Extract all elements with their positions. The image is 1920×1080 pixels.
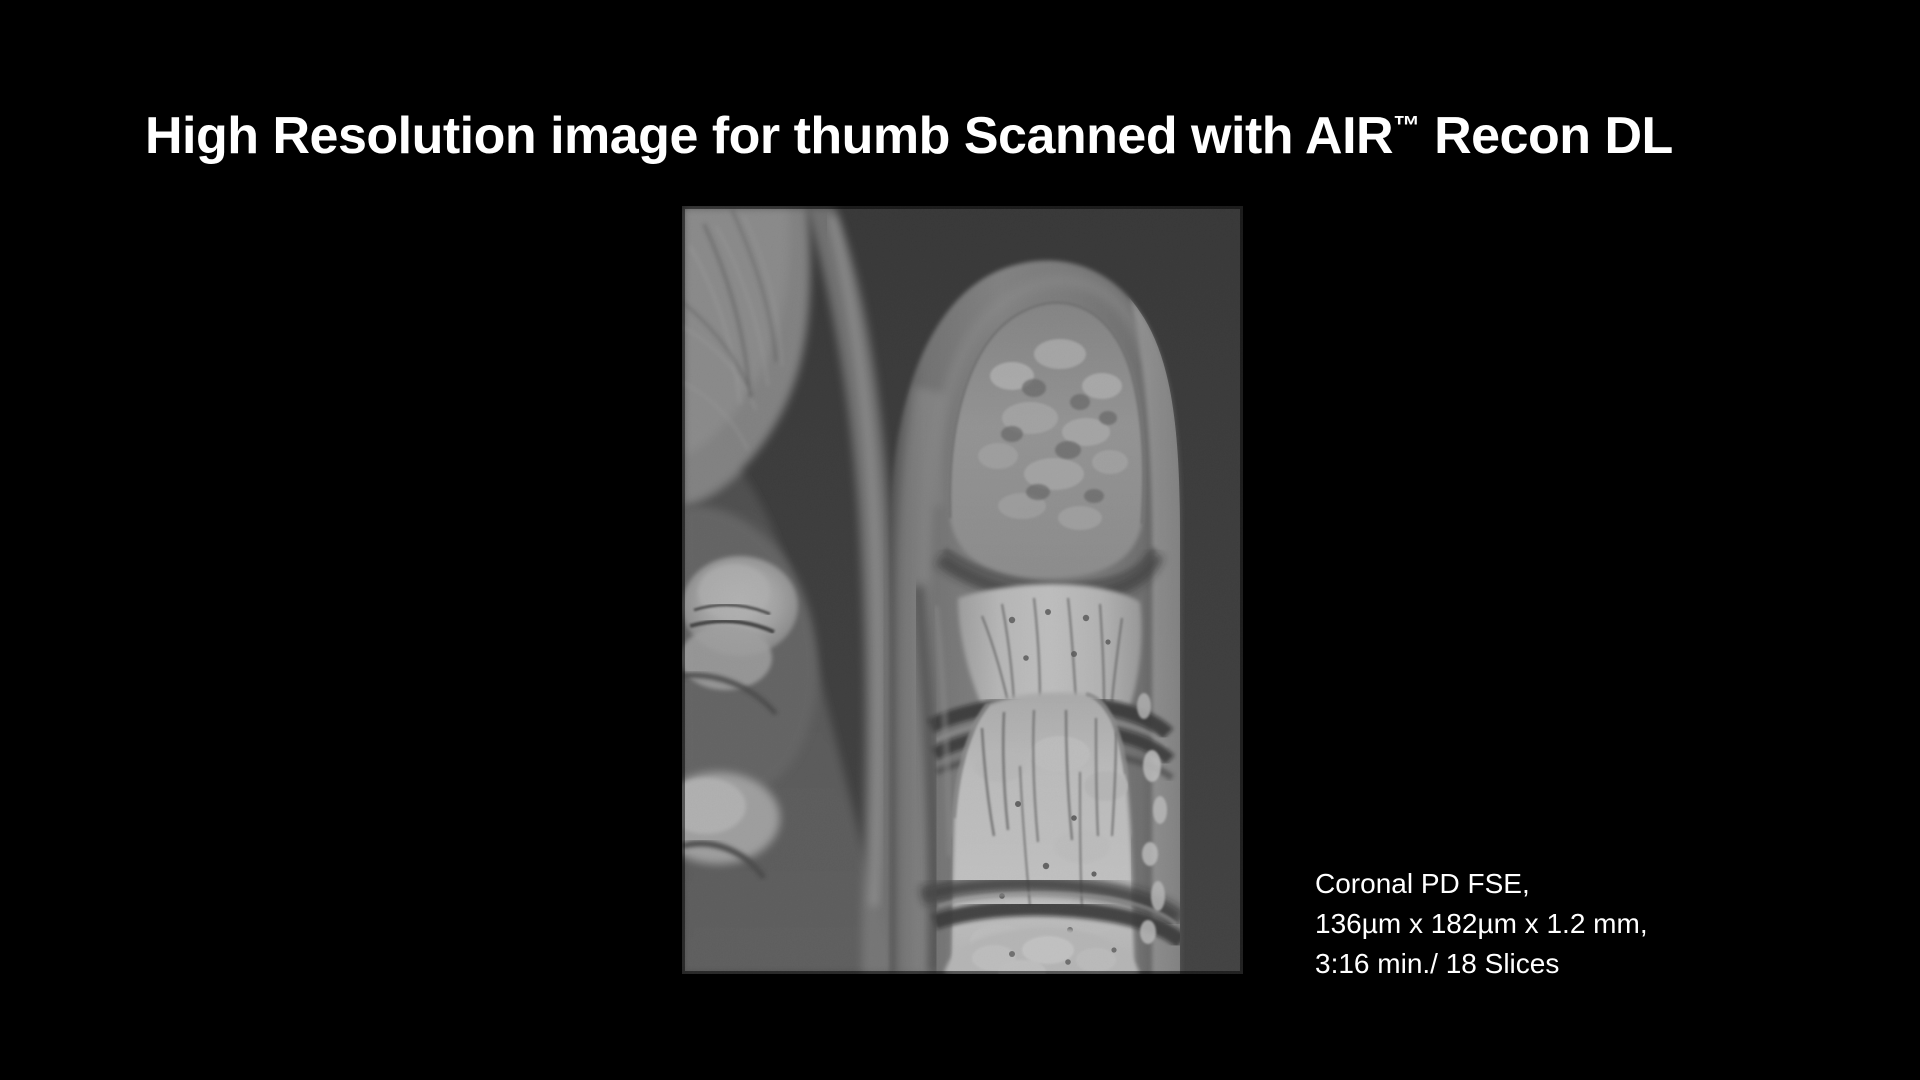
scan-parameters-caption: Coronal PD FSE, 136µm x 182µm x 1.2 mm, … xyxy=(1315,864,1648,984)
page-title: High Resolution image for thumb Scanned … xyxy=(145,107,1845,167)
mri-noise-overlay-soft xyxy=(682,206,1243,974)
title-text-tail: Recon DL xyxy=(1420,107,1673,165)
mri-scan-svg xyxy=(682,206,1243,974)
mri-scan-image xyxy=(682,206,1243,974)
caption-line-resolution: 136µm x 182µm x 1.2 mm, xyxy=(1315,904,1648,944)
caption-line-sequence: Coronal PD FSE, xyxy=(1315,864,1648,904)
slide-canvas: High Resolution image for thumb Scanned … xyxy=(0,0,1920,1080)
title-text-main: High Resolution image for thumb Scanned … xyxy=(145,107,1393,165)
caption-line-time-slices: 3:16 min./ 18 Slices xyxy=(1315,944,1648,984)
trademark-icon: ™ xyxy=(1393,111,1420,141)
